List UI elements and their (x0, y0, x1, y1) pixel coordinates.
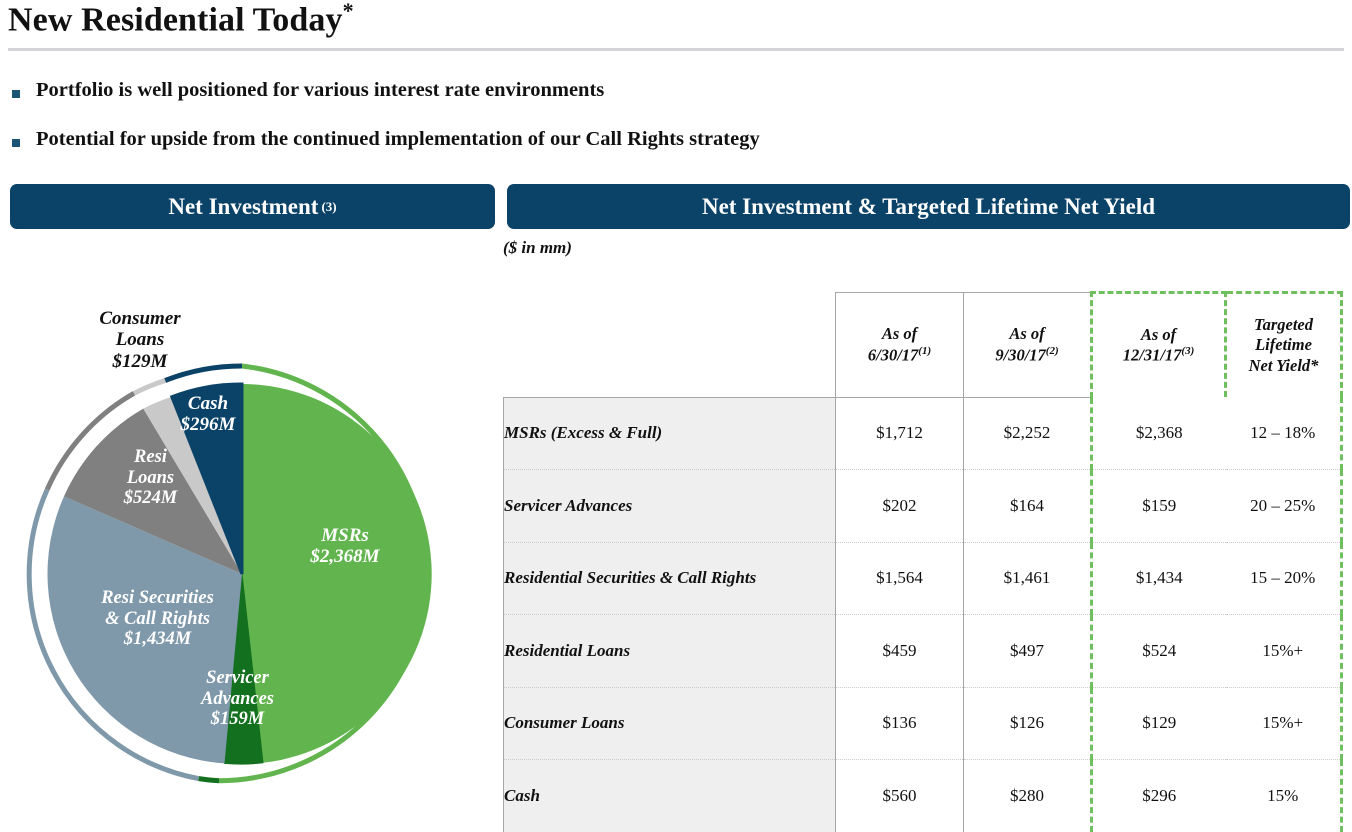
table-row: Residential Loans $459 $497 $524 15%+ (504, 615, 1342, 688)
table-header-targeted-lifetime-net-yield: Targeted Lifetime Net Yield* (1226, 293, 1342, 398)
cell-targeted-yield: 15% (1226, 760, 1342, 832)
pie-label-msrs: MSRs $2,368M (280, 525, 410, 568)
row-label: Servicer Advances (504, 470, 836, 543)
hdr-sup: (1) (918, 345, 931, 357)
hdr-line2: 12/31/17 (1123, 346, 1182, 365)
bullet-text: Portfolio is well positioned for various… (36, 78, 604, 104)
hdr-line2: Lifetime (1255, 335, 1312, 354)
hdr-sup: (2) (1046, 345, 1059, 357)
row-label: MSRs (Excess & Full) (504, 397, 836, 470)
row-label: Residential Loans (504, 615, 836, 688)
table-header-as-of-12-31-17: As of 12/31/17(3) (1092, 293, 1226, 398)
cell-as-of-12-31-17: $2,368 (1092, 397, 1226, 470)
section-header-left-label: Net Investment (168, 194, 318, 220)
page-title-asterisk: * (343, 0, 354, 23)
row-label: Residential Securities & Call Rights (504, 542, 836, 615)
cell-as-of-9-30-17: $497 (964, 615, 1092, 688)
table-row: Residential Securities & Call Rights $1,… (504, 542, 1342, 615)
table-header-as-of-6-30-17: As of 6/30/17(1) (836, 293, 964, 398)
pie-label-resi-loans: Resi Loans $524M (108, 447, 193, 509)
cell-as-of-12-31-17: $296 (1092, 760, 1226, 832)
cell-as-of-6-30-17: $1,712 (836, 397, 964, 470)
cell-as-of-9-30-17: $280 (964, 760, 1092, 832)
pie-label-servicer-advances: Servicer Advances $159M (180, 668, 295, 730)
section-header-right-label: Net Investment & Targeted Lifetime Net Y… (702, 194, 1155, 220)
table-row: MSRs (Excess & Full) $1,712 $2,252 $2,36… (504, 397, 1342, 470)
row-label: Cash (504, 760, 836, 832)
table-head: As of 6/30/17(1) As of 9/30/17(2) As of … (504, 293, 1342, 398)
table-row: Consumer Loans $136 $126 $129 15%+ (504, 687, 1342, 760)
cell-as-of-9-30-17: $164 (964, 470, 1092, 543)
table-row: Servicer Advances $202 $164 $159 20 – 25… (504, 470, 1342, 543)
pie-label-consumer-loans: Consumer Loans $129M (70, 308, 210, 372)
pie-label-resi-securities: Resi Securities & Call Rights $1,434M (75, 588, 240, 650)
table-body: MSRs (Excess & Full) $1,712 $2,252 $2,36… (504, 397, 1342, 832)
net-investment-table: As of 6/30/17(1) As of 9/30/17(2) As of … (503, 291, 1341, 822)
cell-targeted-yield: 15%+ (1226, 687, 1342, 760)
net-investment-pie-chart: MSRs $2,368M Servicer Advances $159M Res… (0, 330, 500, 822)
outer-arc-consumer-loans (134, 381, 165, 394)
table: As of 6/30/17(1) As of 9/30/17(2) As of … (503, 291, 1343, 832)
bullet-square-icon (12, 90, 20, 98)
cell-as-of-6-30-17: $459 (836, 615, 964, 688)
cell-as-of-9-30-17: $126 (964, 687, 1092, 760)
cell-as-of-9-30-17: $2,252 (964, 397, 1092, 470)
section-header-left-superscript: (3) (321, 199, 336, 215)
cell-as-of-6-30-17: $560 (836, 760, 964, 832)
cell-as-of-6-30-17: $1,564 (836, 542, 964, 615)
table-row: Cash $560 $280 $296 15% (504, 760, 1342, 832)
bullet-text: Potential for upside from the continued … (36, 127, 760, 153)
cell-as-of-12-31-17: $129 (1092, 687, 1226, 760)
section-header-net-investment-yield: Net Investment & Targeted Lifetime Net Y… (507, 184, 1350, 229)
table-header-as-of-9-30-17: As of 9/30/17(2) (964, 293, 1092, 398)
page-title: New Residential Today* (8, 0, 354, 39)
cell-targeted-yield: 12 – 18% (1226, 397, 1342, 470)
page-title-text: New Residential Today (8, 1, 343, 38)
hdr-line2: 6/30/17 (868, 345, 918, 364)
units-note: ($ in mm) (503, 238, 572, 258)
pie-label-cash: Cash $296M (168, 393, 248, 436)
cell-targeted-yield: 20 – 25% (1226, 470, 1342, 543)
cell-targeted-yield: 15%+ (1226, 615, 1342, 688)
cell-as-of-6-30-17: $202 (836, 470, 964, 543)
bullet-item: Potential for upside from the continued … (12, 127, 760, 153)
cell-as-of-12-31-17: $1,434 (1092, 542, 1226, 615)
bullet-item: Portfolio is well positioned for various… (12, 78, 604, 104)
cell-as-of-12-31-17: $524 (1092, 615, 1226, 688)
outer-arc-servicer-advances (199, 779, 219, 781)
hdr-line1: Targeted (1254, 315, 1313, 334)
hdr-sup: (3) (1181, 345, 1194, 357)
row-label: Consumer Loans (504, 687, 836, 760)
table-header-blank (504, 293, 836, 398)
title-divider (8, 48, 1344, 51)
hdr-line1: As of (1141, 325, 1176, 344)
cell-as-of-6-30-17: $136 (836, 687, 964, 760)
cell-as-of-9-30-17: $1,461 (964, 542, 1092, 615)
table-header-row: As of 6/30/17(1) As of 9/30/17(2) As of … (504, 293, 1342, 398)
section-header-net-investment: Net Investment(3) (10, 184, 495, 229)
hdr-line1: As of (1009, 324, 1044, 343)
hdr-line1: As of (882, 324, 917, 343)
cell-as-of-12-31-17: $159 (1092, 470, 1226, 543)
bullet-square-icon (12, 139, 20, 147)
pie-svg (0, 330, 500, 822)
cell-targeted-yield: 15 – 20% (1226, 542, 1342, 615)
hdr-line2: 9/30/17 (995, 345, 1045, 364)
hdr-line3: Net Yield* (1249, 356, 1319, 375)
